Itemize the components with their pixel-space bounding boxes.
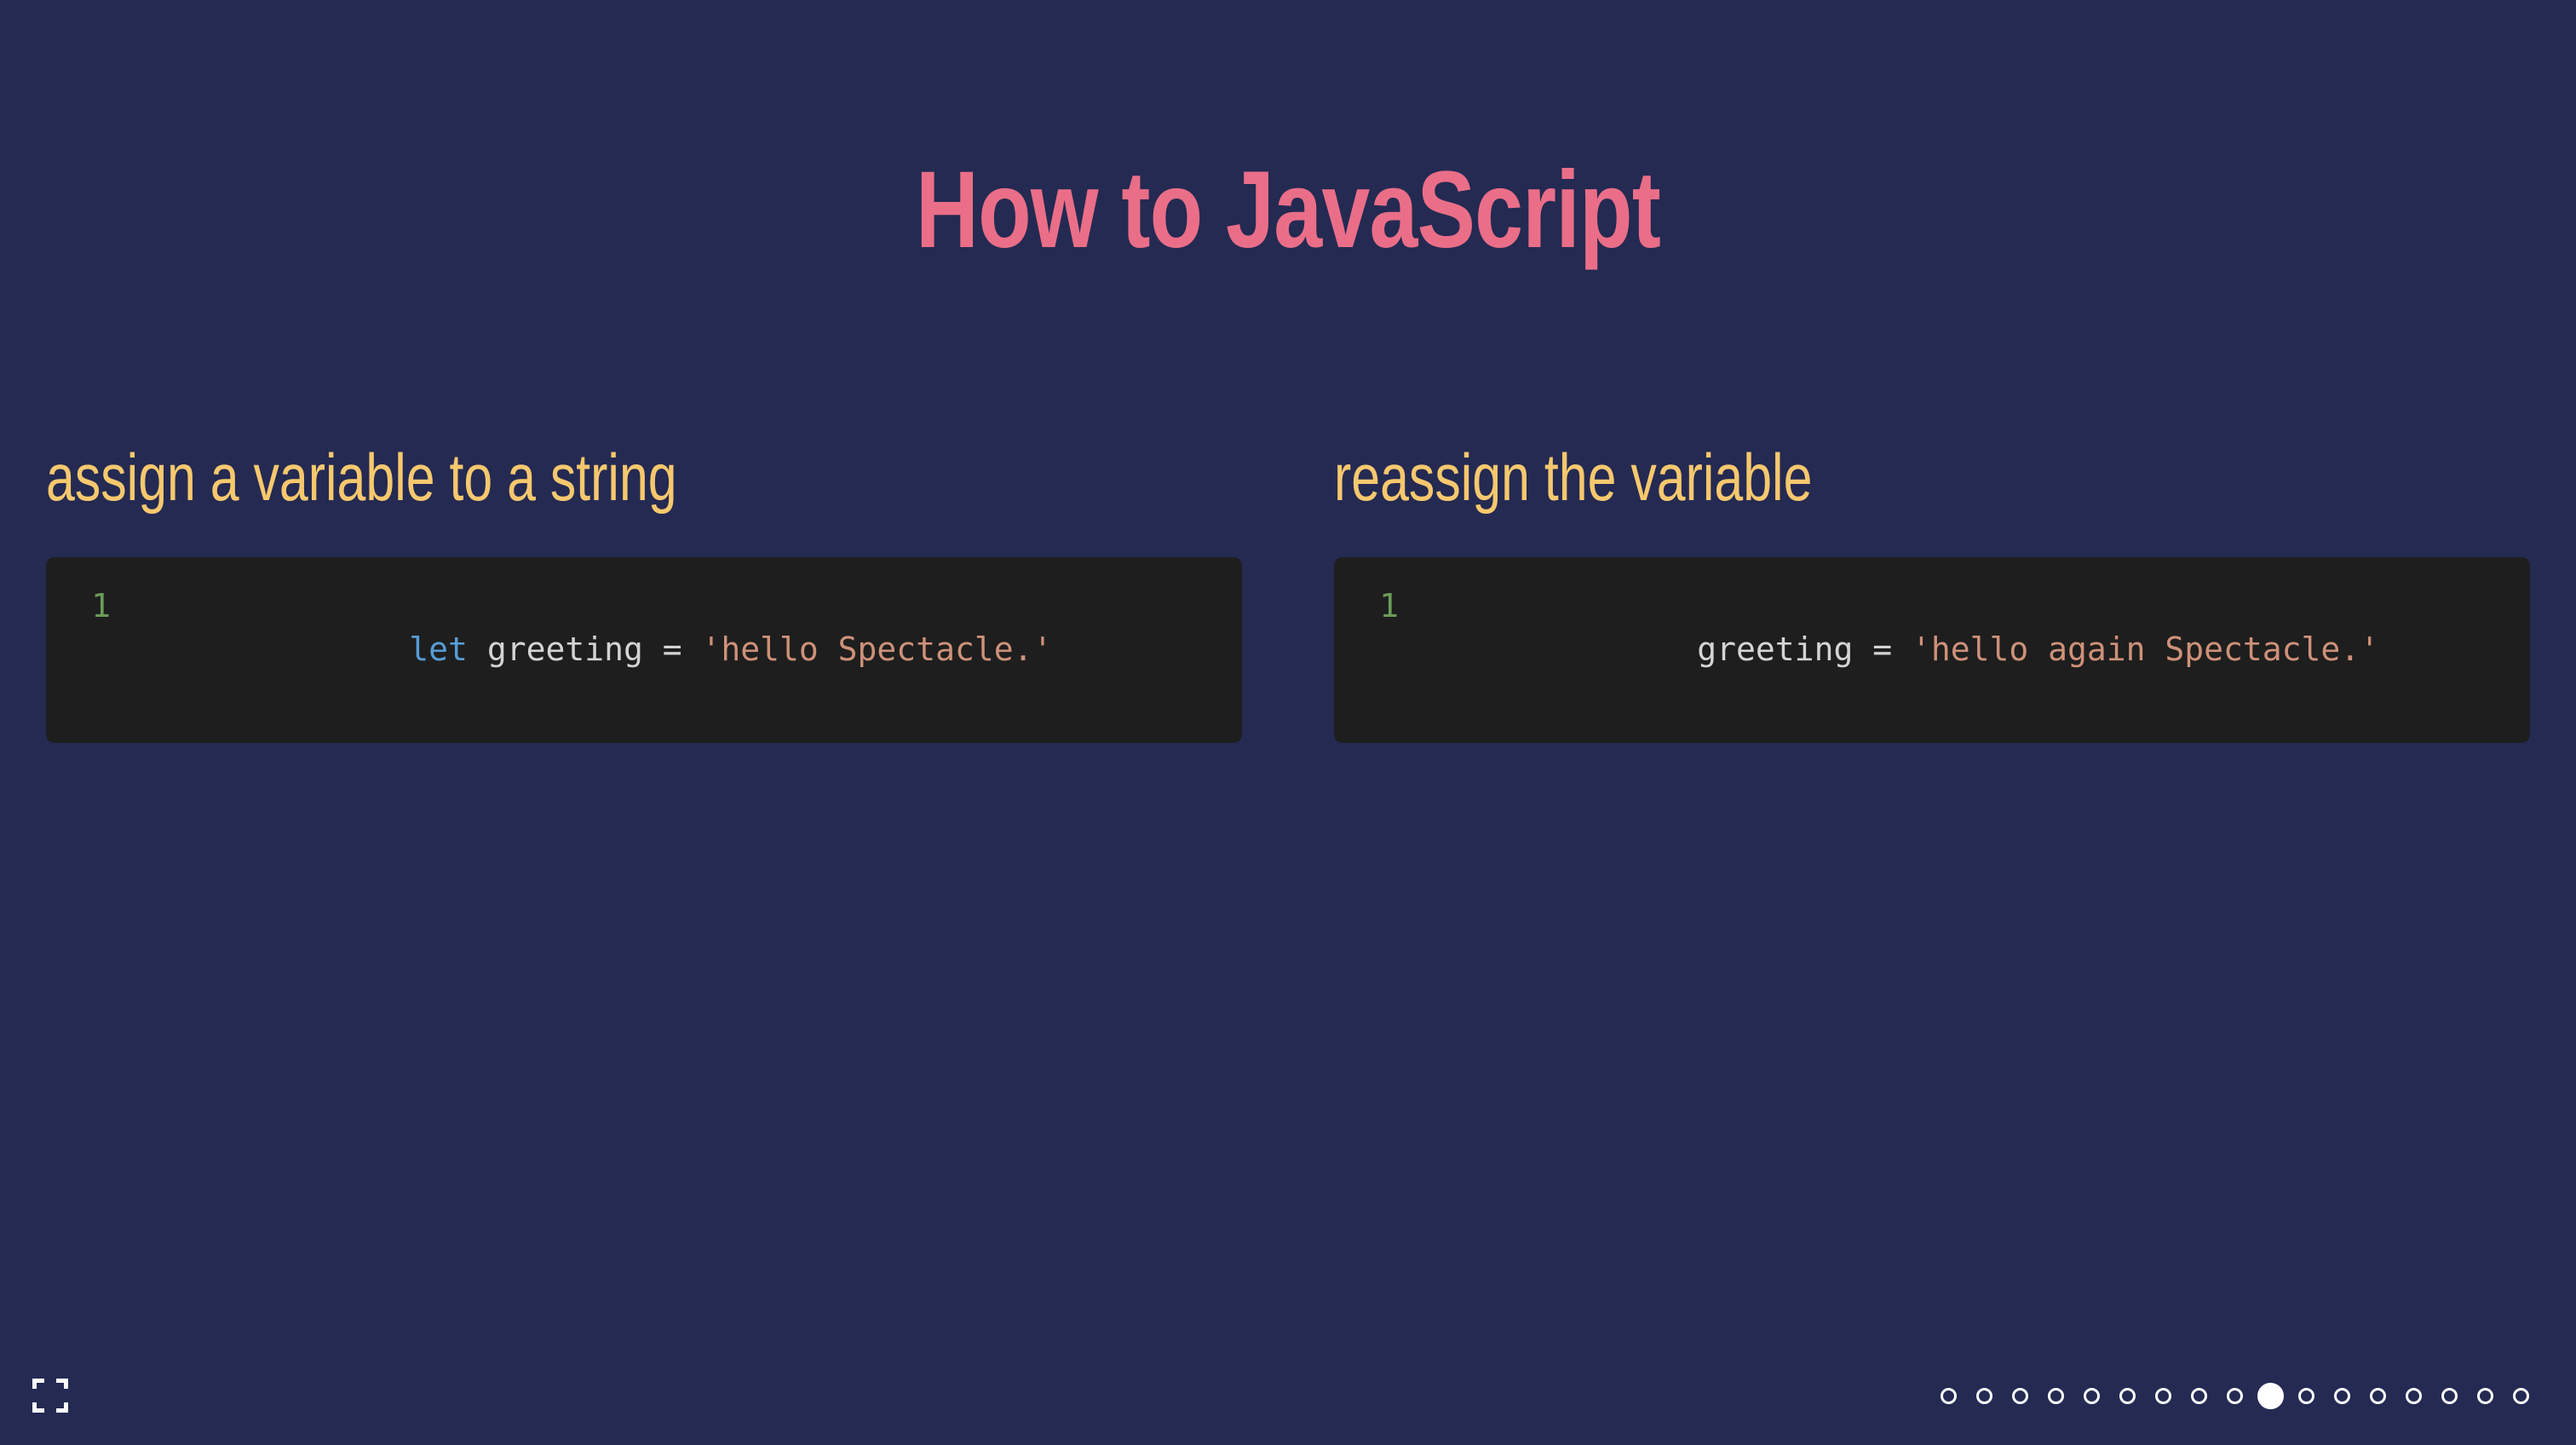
progress-dot-active[interactable] [2252,1375,2288,1416]
column-heading-reassign: reassign the variable [1334,443,2267,513]
column-heading-assign: assign a variable to a string [46,443,979,513]
progress-dot-bullet [2406,1388,2422,1404]
code-token-operator: = [1872,630,1892,668]
progress-dot-bullet [2119,1388,2136,1404]
code-content: let greeting = 'hello Spectacle.' [111,584,1052,716]
progress-dot-bullet [2012,1388,2028,1404]
code-line: 1 let greeting = 'hello Spectacle.' [46,584,1242,716]
code-block-assign: 1 let greeting = 'hello Spectacle.' [46,557,1242,743]
progress-dot[interactable] [2002,1375,2038,1416]
progress-dot[interactable] [2395,1375,2431,1416]
progress-dot[interactable] [2467,1375,2503,1416]
progress-dot[interactable] [2324,1375,2360,1416]
progress-dot[interactable] [2073,1375,2109,1416]
progress-dot-bullet [2048,1388,2064,1404]
progress-dot-bullet [2441,1388,2458,1404]
code-token-operator: = [663,630,682,668]
slide-columns: assign a variable to a string 1 let gree… [0,443,2576,784]
progress-dot-bullet [2513,1388,2529,1404]
progress-dot-bullet [2257,1383,2284,1409]
progress-dot[interactable] [1966,1375,2002,1416]
progress-dot-bullet [2191,1388,2207,1404]
progress-dot[interactable] [2503,1375,2539,1416]
progress-dot[interactable] [2431,1375,2467,1416]
code-line: 1 greeting = 'hello again Spectacle.' [1334,584,2530,716]
progress-dot-bullet [2477,1388,2493,1404]
code-token-string: 'hello Spectacle.' [702,630,1053,668]
code-content: greeting = 'hello again Spectacle.' [1399,584,2379,716]
column-assign-variable: assign a variable to a string 1 let gree… [0,443,1288,743]
code-token-space [643,630,663,668]
code-block-reassign: 1 greeting = 'hello again Spectacle.' [1334,557,2530,743]
progress-dot-bullet [1941,1388,1957,1404]
progress-dot[interactable] [2038,1375,2073,1416]
progress-dot[interactable] [2288,1375,2324,1416]
page-title: How to JavaScript [257,152,2318,269]
code-token-space [682,630,702,668]
fullscreen-button[interactable] [31,1377,70,1414]
code-token-space [1892,630,1912,668]
progress-dot-bullet [2155,1388,2171,1404]
progress-dots[interactable] [1930,1375,2539,1416]
progress-dot[interactable] [2109,1375,2145,1416]
progress-dot-bullet [2334,1388,2350,1404]
progress-dot[interactable] [2181,1375,2217,1416]
progress-dot-bullet [2227,1388,2243,1404]
code-token-keyword: let [409,630,468,668]
presentation-slide: How to JavaScript assign a variable to a… [0,0,2576,1445]
progress-dot[interactable] [1930,1375,1966,1416]
code-token-space [1853,630,1872,668]
fullscreen-icon [31,1377,70,1414]
progress-dot[interactable] [2360,1375,2395,1416]
progress-dot-bullet [2298,1388,2314,1404]
column-reassign-variable: reassign the variable 1 greeting = 'hell… [1288,443,2576,743]
progress-dot-bullet [2370,1388,2386,1404]
progress-dot[interactable] [2145,1375,2181,1416]
progress-dot[interactable] [2217,1375,2252,1416]
code-line-number: 1 [46,584,111,628]
code-token-space [468,630,487,668]
progress-dot-bullet [1976,1388,1992,1404]
progress-dot-bullet [2084,1388,2100,1404]
code-line-number: 1 [1334,584,1399,628]
code-token-identifier: greeting [487,630,643,668]
code-token-string: 'hello again Spectacle.' [1912,630,2379,668]
code-token-identifier: greeting [1697,630,1853,668]
